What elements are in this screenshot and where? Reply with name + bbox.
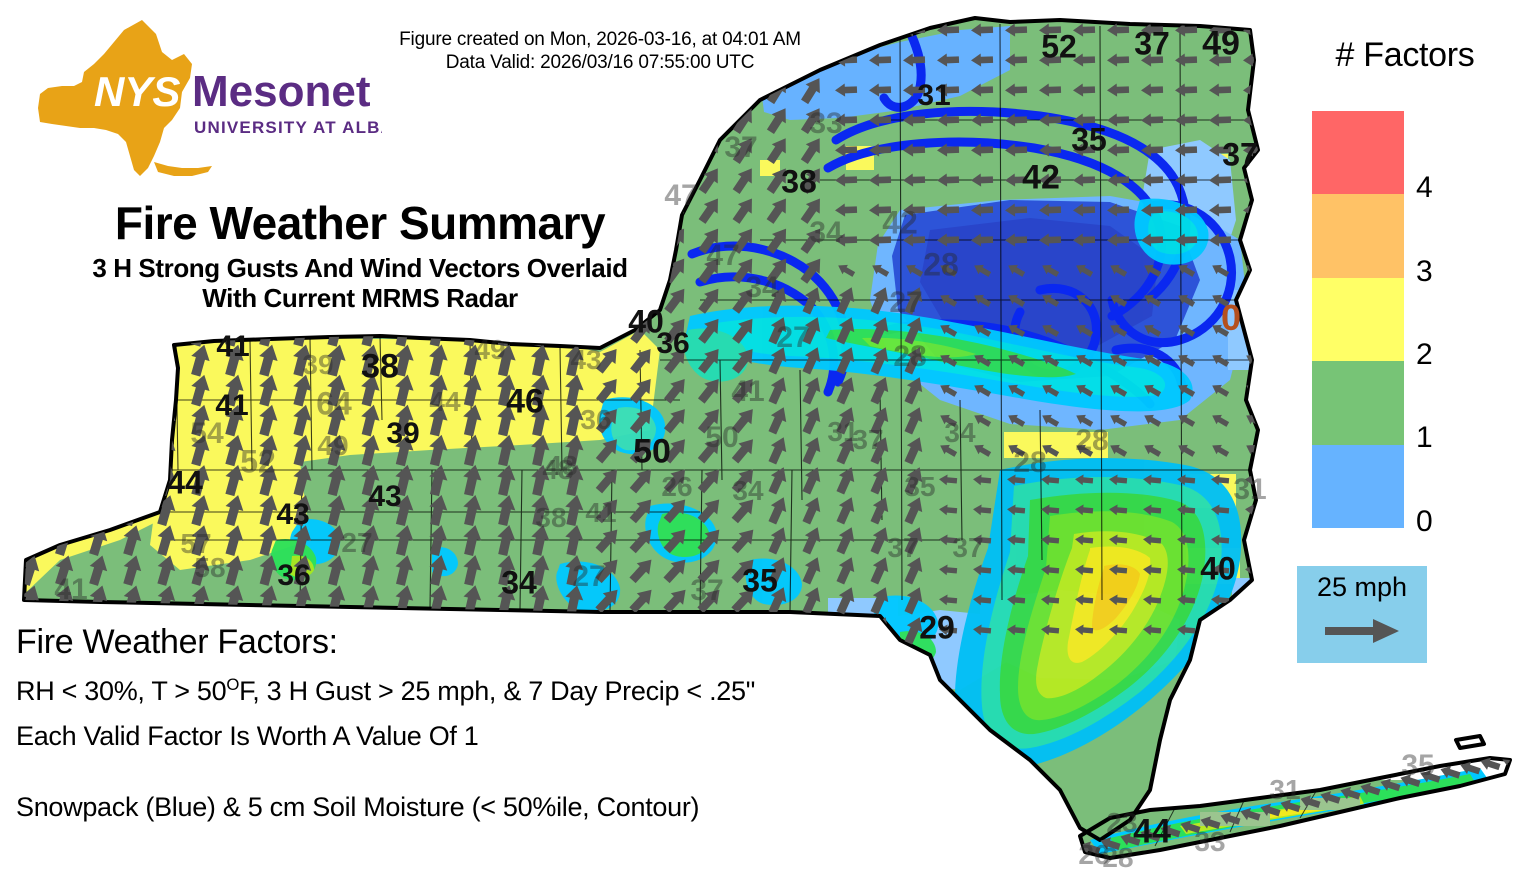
- gust-label: 31: [1233, 473, 1266, 507]
- gust-label: 44: [429, 386, 460, 418]
- subtitle-line-2: With Current MRMS Radar: [30, 283, 690, 313]
- snowpack-note-line: Snowpack (Blue) & 5 cm Soil Moisture (< …: [16, 785, 916, 830]
- page-subtitle: 3 H Strong Gusts And Wind Vectors Overla…: [30, 253, 690, 313]
- gust-label: 33: [809, 107, 842, 141]
- gust-label: 35: [1071, 122, 1107, 159]
- gust-label: 39: [302, 349, 333, 381]
- colorbar-band-1: [1312, 361, 1404, 444]
- colorbar-tick-0: 0: [1416, 505, 1433, 539]
- colorbar-tick-labels: 43210: [1416, 111, 1476, 528]
- gust-label: 52: [1041, 29, 1077, 66]
- factors-heading: Fire Weather Factors:: [16, 622, 916, 662]
- wind-arrow-icon: [1319, 616, 1405, 646]
- gust-label: 49: [317, 430, 348, 462]
- gust-label: 37: [887, 532, 918, 564]
- logo-mesonet-text: Mesonet: [192, 67, 371, 116]
- gust-label: 34: [944, 417, 975, 449]
- colorbar-tick-2: 2: [1416, 338, 1433, 372]
- gust-label: 44: [167, 465, 203, 502]
- factors-colorbar: [1312, 111, 1404, 528]
- gust-label: 37: [952, 532, 983, 564]
- gust-label: 34: [732, 475, 763, 507]
- colorbar-band-0: [1312, 445, 1404, 528]
- logo-university-text: UNIVERSITY AT ALBANY: [194, 118, 382, 137]
- gust-label: 49: [474, 334, 505, 366]
- gust-label: 28: [1013, 446, 1046, 480]
- fire-weather-factors-block: Fire Weather Factors: RH < 30%, T > 50OF…: [16, 622, 916, 830]
- gust-label: 64: [316, 386, 352, 423]
- gust-label: 57: [180, 528, 211, 560]
- gust-label: 41: [585, 497, 616, 529]
- gust-label: 36: [656, 327, 689, 361]
- gust-label: 35: [904, 471, 935, 503]
- gust-label: 37: [1222, 137, 1258, 174]
- data-valid-line: Data Valid: 2026/03/16 07:55:00 UTC: [340, 51, 860, 74]
- logo-nys-text: NYS: [94, 68, 180, 115]
- gust-label: 38: [781, 164, 817, 201]
- wind-legend-label: 25 mph: [1297, 572, 1427, 603]
- gust-label: 43: [276, 498, 309, 532]
- gust-label: 41: [215, 389, 248, 423]
- page-title: Fire Weather Summary: [30, 196, 690, 250]
- gust-label: 36: [277, 559, 310, 593]
- gust-label: 43: [368, 480, 401, 514]
- degree-symbol: O: [226, 675, 239, 694]
- factors-spacer: [16, 759, 916, 785]
- colorbar-band-4: [1312, 111, 1404, 194]
- gust-label: 28: [1075, 424, 1108, 458]
- gust-label: 41: [731, 375, 764, 409]
- gust-label: 37: [724, 131, 757, 165]
- gust-label: 58: [194, 552, 225, 584]
- gust-label: 37: [852, 424, 883, 456]
- colorbar-band-2: [1312, 278, 1404, 361]
- gust-label: 38: [361, 348, 399, 387]
- gust-label: 27: [572, 560, 605, 594]
- subtitle-line-1: 3 H Strong Gusts And Wind Vectors Overla…: [30, 253, 690, 283]
- gust-label: 29: [919, 610, 955, 647]
- gust-label: 27: [776, 321, 809, 355]
- gust-label: 27: [889, 286, 922, 320]
- gust-label: 44: [1133, 813, 1171, 852]
- gust-label: 34: [809, 216, 842, 250]
- gust-label: 46: [506, 383, 544, 422]
- gust-label: 50: [705, 421, 738, 455]
- gust-label: 38: [535, 502, 566, 534]
- factors-value-line: Each Valid Factor Is Worth A Value Of 1: [16, 714, 916, 759]
- gust-label: 28: [1102, 842, 1133, 874]
- gust-label: 34: [745, 271, 778, 305]
- gust-label: 50: [633, 433, 671, 472]
- gust-label: 39: [386, 417, 419, 451]
- gust-label: 28: [893, 340, 926, 374]
- gust-label: 35: [1401, 749, 1434, 783]
- gust-label: 41: [54, 573, 87, 607]
- gust-label: 43: [570, 344, 601, 376]
- gust-label: 40: [1200, 551, 1236, 588]
- gust-label: 23: [1106, 807, 1137, 839]
- figure-timestamp-block: Figure created on Mon, 2026-03-16, at 04…: [340, 28, 860, 74]
- colorbar-tick-1: 1: [1416, 421, 1433, 455]
- gust-label: 36: [580, 404, 611, 436]
- gust-label: 47: [706, 239, 739, 273]
- factors-criteria-post: F, 3 H Gust > 25 mph, & 7 Day Precip < .…: [239, 676, 755, 706]
- colorbar-tick-3: 3: [1416, 255, 1433, 289]
- gust-label: 31: [917, 79, 950, 113]
- nys-mesonet-logo: NYS Mesonet UNIVERSITY AT ALBANY: [22, 16, 382, 186]
- gust-label: 41: [216, 330, 249, 364]
- gust-label: 49: [1202, 25, 1240, 64]
- gust-label: 28: [923, 247, 959, 284]
- gust-label: 35: [742, 563, 778, 600]
- gust-label: 31: [827, 416, 858, 448]
- factors-criteria-pre: RH < 30%, T > 50: [16, 676, 226, 706]
- gust-label: 48: [542, 454, 573, 486]
- gust-label: 52: [240, 444, 276, 481]
- gust-label: 26: [661, 471, 692, 503]
- colorbar-tick-4: 4: [1416, 171, 1433, 205]
- gust-label: 26: [1078, 839, 1109, 871]
- figure-created-line: Figure created on Mon, 2026-03-16, at 04…: [340, 28, 860, 51]
- factors-criteria-line: RH < 30%, T > 50OF, 3 H Gust > 25 mph, &…: [16, 662, 916, 714]
- gust-label: 48: [546, 450, 577, 482]
- gust-label: 31: [1269, 774, 1300, 806]
- colorbar-band-3: [1312, 194, 1404, 277]
- gust-label: 37: [1134, 26, 1170, 63]
- gust-label: 0: [1221, 297, 1241, 339]
- gust-label: 42: [882, 205, 918, 242]
- gust-label: 33: [1194, 826, 1225, 858]
- gust-label: 42: [1022, 159, 1060, 198]
- gust-label: 27: [341, 527, 372, 559]
- wind-speed-legend: 25 mph: [1297, 566, 1427, 663]
- gust-label: 54: [190, 417, 223, 451]
- gust-label: 34: [501, 565, 537, 602]
- wind-legend-arrow-box: [1297, 616, 1427, 651]
- gust-label: 37: [690, 574, 723, 608]
- colorbar-title: # Factors: [1290, 36, 1520, 75]
